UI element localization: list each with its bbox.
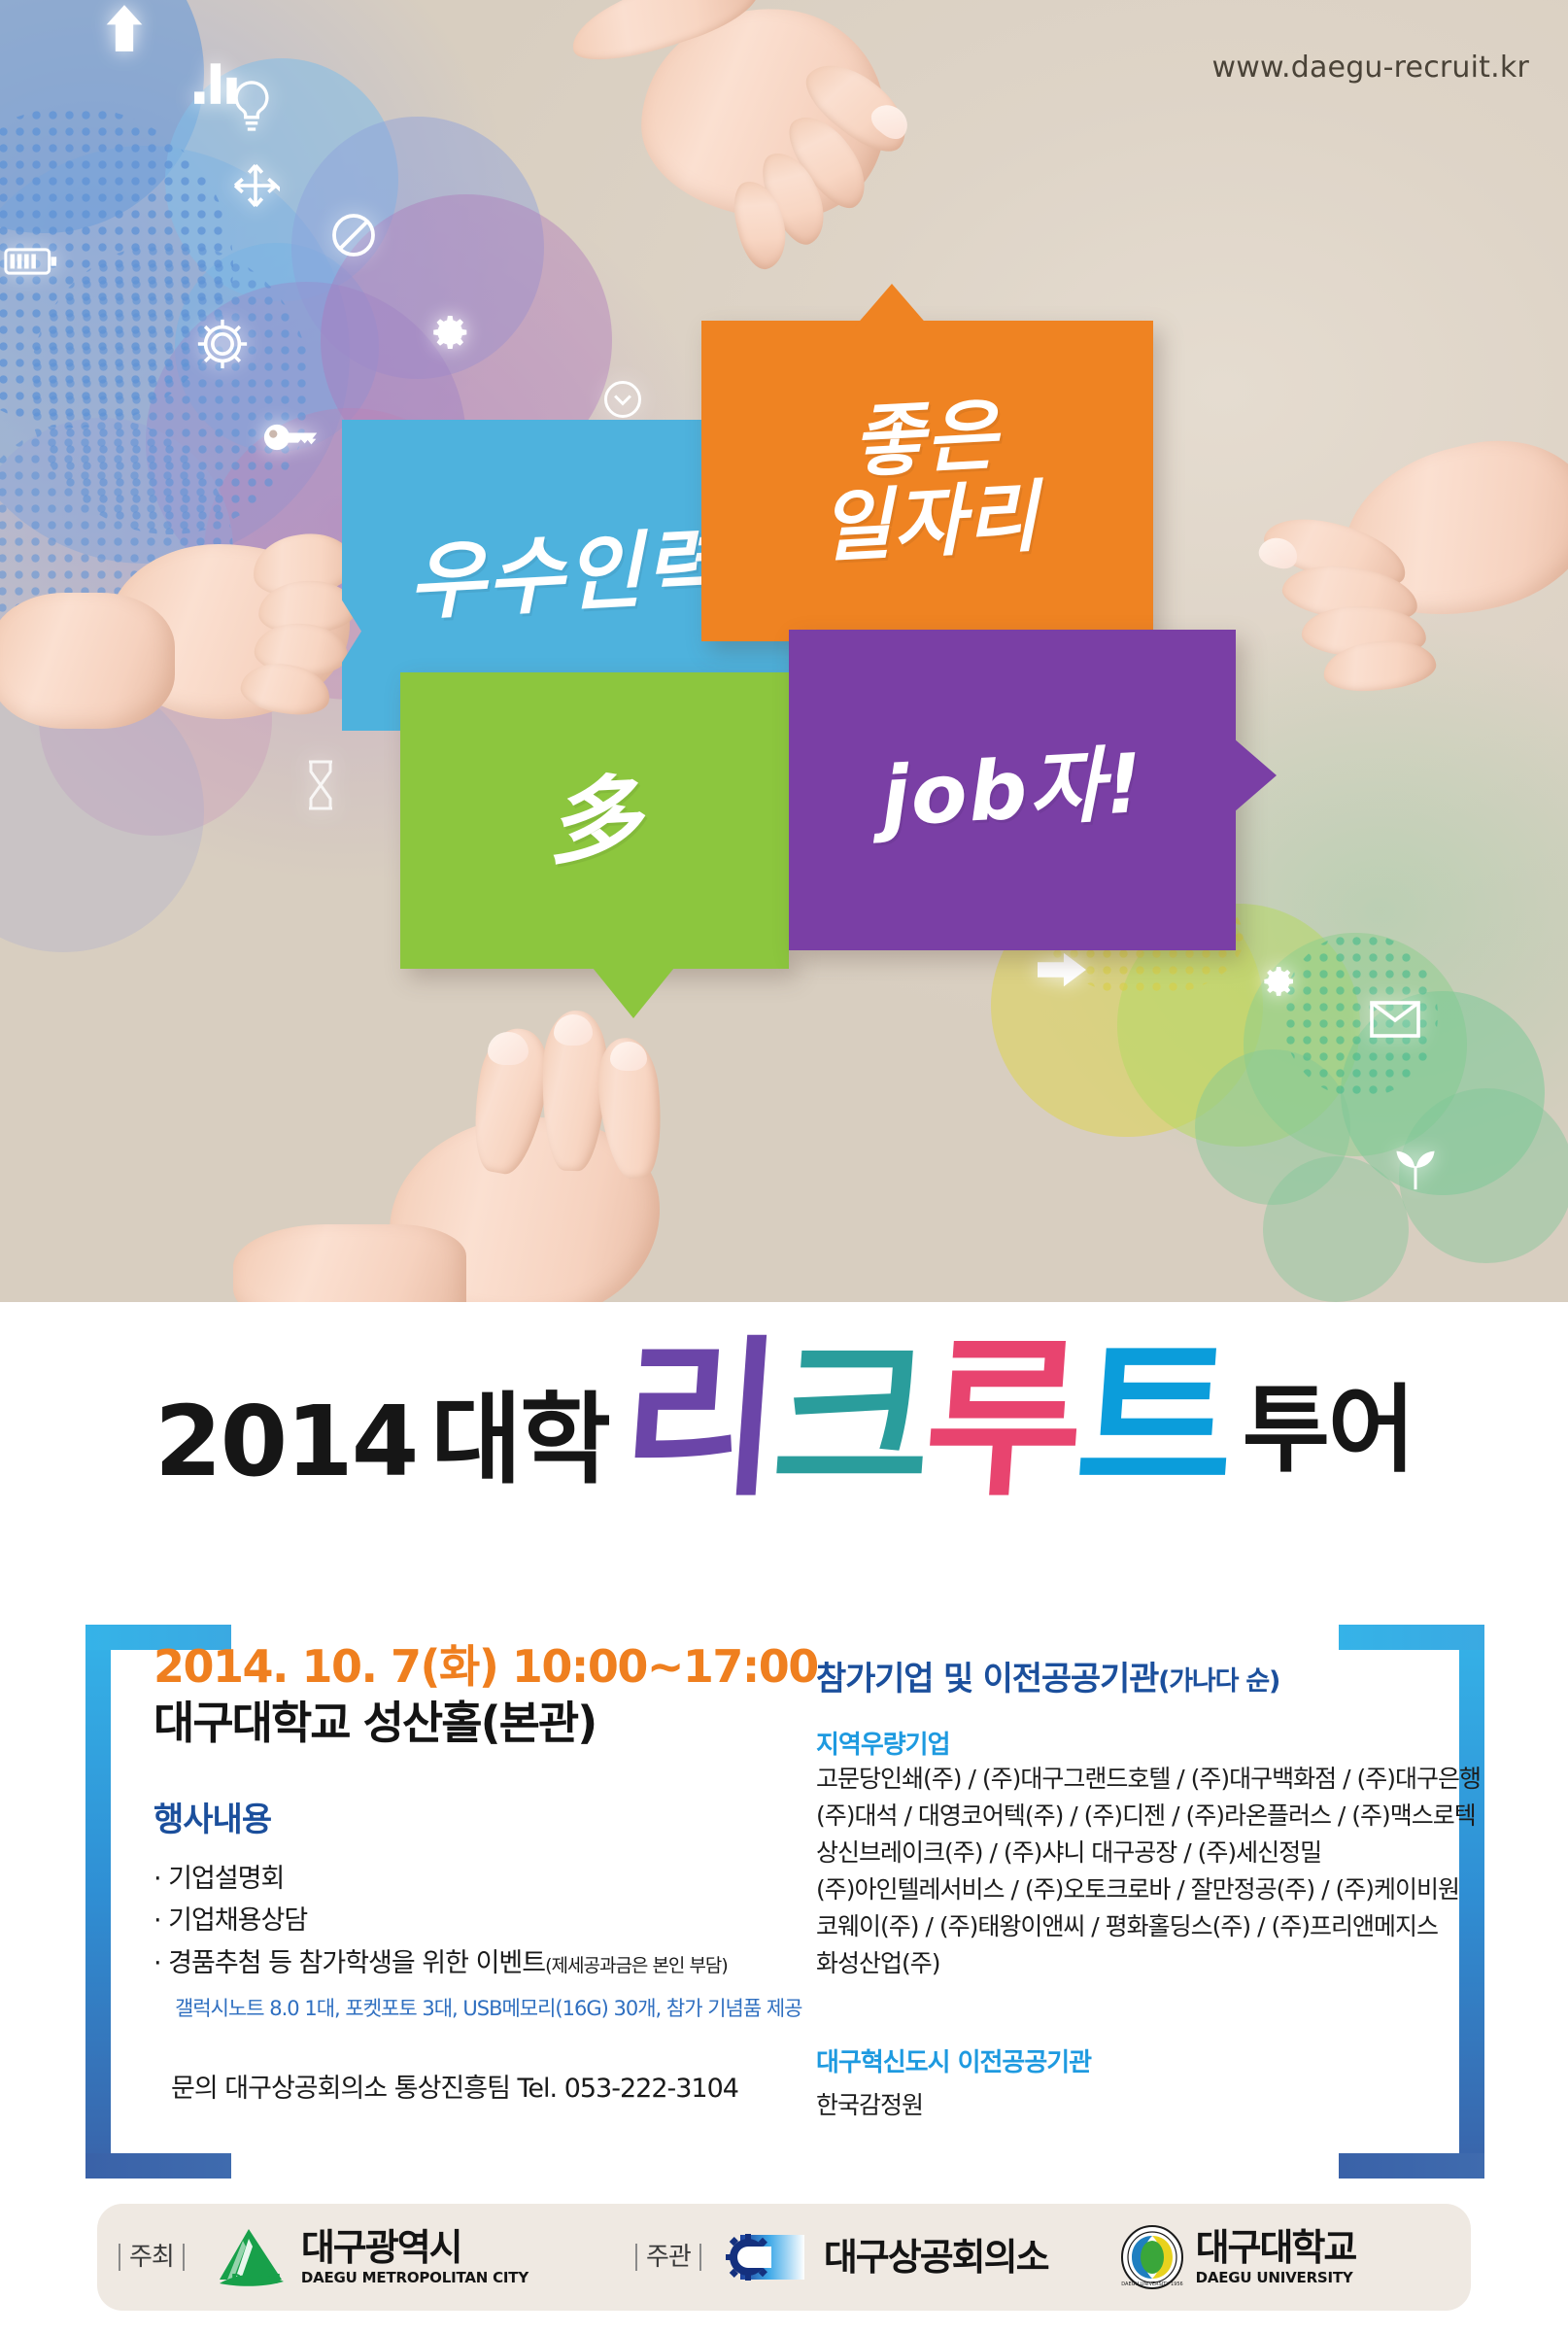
list-item: 화성산업(주)	[816, 1945, 1360, 1982]
speech-bubble-purple: job자!	[789, 630, 1236, 950]
participants-column: 참가기업 및 이전공공기관(가나다 순) 지역우량기업 고문당인쇄(주) / (…	[816, 1652, 1360, 2121]
logo-text-en: DAEGU METROPOLITAN CITY	[301, 2269, 528, 2286]
title-char-keu: 크	[769, 1351, 931, 1491]
poster-title: 2014 대학 리 크 루 트 투어	[0, 1351, 1568, 1491]
battery-icon	[4, 248, 58, 275]
gear-icon-2	[427, 311, 470, 354]
speech-bubble-green: 多	[400, 672, 789, 969]
title-char-ru: 루	[921, 1351, 1082, 1491]
svg-text:DAEGU UNIVERSITY 1956: DAEGU UNIVERSITY 1956	[1121, 2282, 1182, 2287]
decor-bubble	[1263, 1156, 1409, 1302]
organizer-label: 주관	[635, 2244, 701, 2272]
daegu-city-mark-icon: DAEGU	[206, 2225, 290, 2289]
logo-text-en: DAEGU UNIVERSITY	[1196, 2269, 1356, 2286]
title-word-tour: 투어	[1243, 1353, 1414, 1491]
title-logo-recruit: 리 크 루 트	[623, 1351, 1229, 1491]
program-heading: 행사내용	[153, 1793, 736, 1840]
local-company-list: 고문당인쇄(주) / (주)대구그랜드호텔 / (주)대구백화점 / (주)대구…	[816, 1761, 1360, 1982]
sponsor-footer: 주최 DAEGU 대구광역시 DAEGU METROPOLITAN CITY 주…	[97, 2204, 1471, 2311]
host-label: 주최	[119, 2244, 185, 2272]
bullet-note: (제세공과금은 본인 부담)	[545, 1955, 728, 1976]
title-word-daehak: 대학	[430, 1391, 609, 1491]
title-char-teu: 트	[1073, 1351, 1234, 1491]
speech-bubble-orange: 좋은 일자리	[701, 321, 1153, 641]
daegu-univ-seal-icon: DAEGU UNIVERSITY 1956	[1120, 2225, 1184, 2289]
prize-note: 갤럭시노트 8.0 1대, 포켓포토 3대, USB메모리(16G) 30개, …	[175, 1993, 736, 2022]
speech-bubble-orange-tail	[855, 284, 929, 326]
list-item: · 기업설명회	[153, 1858, 736, 1901]
svg-text:DAEGU: DAEGU	[231, 2273, 281, 2287]
list-item: (주)아인텔레서비스 / (주)오토크로바 / 잘만정공(주) / (주)케이비…	[816, 1871, 1360, 1908]
contact-line: 문의 대구상공회의소 통상진흥팀 Tel. 053-222-3104	[171, 2067, 736, 2105]
event-date: 2014. 10. 7(화) 10:00~17:00	[153, 1642, 736, 1693]
bubble-text-purple: job자!	[879, 742, 1146, 838]
no-entry-icon	[330, 212, 377, 258]
bubble-text-blue: 우수인력	[406, 526, 724, 626]
leaf-icon	[1391, 1145, 1440, 1191]
list-item: (주)대석 / 대영코어텍(주) / (주)디젠 / (주)라온플러스 / (주…	[816, 1798, 1360, 1835]
logo-text-ko: 대구광역시	[301, 2229, 528, 2266]
envelope-icon	[1370, 1001, 1420, 1038]
website-url[interactable]: www.daegu-recruit.kr	[1212, 51, 1529, 85]
list-item: 코웨이(주) / (주)태왕이앤씨 / 평화홀딩스(주) / (주)프리앤메지스	[816, 1908, 1360, 1945]
speech-bubble-purple-tail	[1234, 738, 1277, 812]
lightbulb-icon	[229, 80, 274, 134]
dcci-gear-mark-icon	[723, 2225, 812, 2289]
hero-section: 우수인력 좋은 일자리 多 job자! www.daegu-recruit.kr	[0, 0, 1568, 1302]
participants-heading-main: 참가기업 및 이전공공기관	[816, 1660, 1158, 1698]
gear-icon	[1258, 962, 1297, 1001]
event-info-column: 2014. 10. 7(화) 10:00~17:00 대구대학교 성산홀(본관)…	[153, 1642, 736, 2105]
logo-text-ko: 대구상공회의소	[824, 2239, 1048, 2276]
poster-root: 우수인력 좋은 일자리 多 job자! www.daegu-recruit.kr…	[0, 0, 1568, 2333]
list-item: 한국감정원	[816, 2086, 1360, 2121]
logo-daegu-city: DAEGU 대구광역시 DAEGU METROPOLITAN CITY	[206, 2225, 528, 2289]
logo-dcci: 대구상공회의소	[723, 2225, 1048, 2289]
gear-icon	[194, 316, 251, 372]
move-icon	[231, 161, 280, 210]
program-bullet-list: · 기업설명회 · 기업채용상담 · 경품추첨 등 참가학생을 위한 이벤트(제…	[153, 1858, 736, 2022]
arrow-right-icon	[1038, 952, 1086, 987]
bubble-text-green: 多	[545, 772, 645, 870]
speech-bubble-green-tail	[593, 968, 674, 1018]
title-year: 2014	[154, 1393, 417, 1491]
chevron-down-icon	[602, 379, 643, 420]
event-venue: 대구대학교 성산홀(본관)	[153, 1697, 736, 1750]
logo-text-ko: 대구대학교	[1196, 2229, 1356, 2266]
key-icon	[262, 418, 321, 457]
list-item: 고문당인쇄(주) / (주)대구그랜드호텔 / (주)대구백화점 / (주)대구…	[816, 1761, 1360, 1798]
hourglass-icon	[303, 760, 338, 810]
arrow-up-icon	[103, 2, 146, 54]
logo-daegu-university: DAEGU UNIVERSITY 1956 대구대학교 DAEGU UNIVER…	[1120, 2225, 1356, 2289]
list-item: · 기업채용상담	[153, 1900, 736, 1942]
participants-heading-note: (가나다 순)	[1158, 1666, 1279, 1697]
group-label-public-institutions: 대구혁신도시 이전공공기관	[816, 2042, 1360, 2078]
title-char-ri: 리	[618, 1351, 779, 1491]
participants-heading: 참가기업 및 이전공공기관(가나다 순)	[816, 1652, 1360, 1699]
bubble-text-orange: 좋은 일자리	[813, 392, 1040, 570]
group-label-local-companies: 지역우량기업	[816, 1725, 1360, 1761]
list-item: 상신브레이크(주) / (주)샤니 대구공장 / (주)세신정밀	[816, 1835, 1360, 1871]
list-item: · 경품추첨 등 참가학생을 위한 이벤트(제세공과금은 본인 부담)	[153, 1942, 736, 1985]
